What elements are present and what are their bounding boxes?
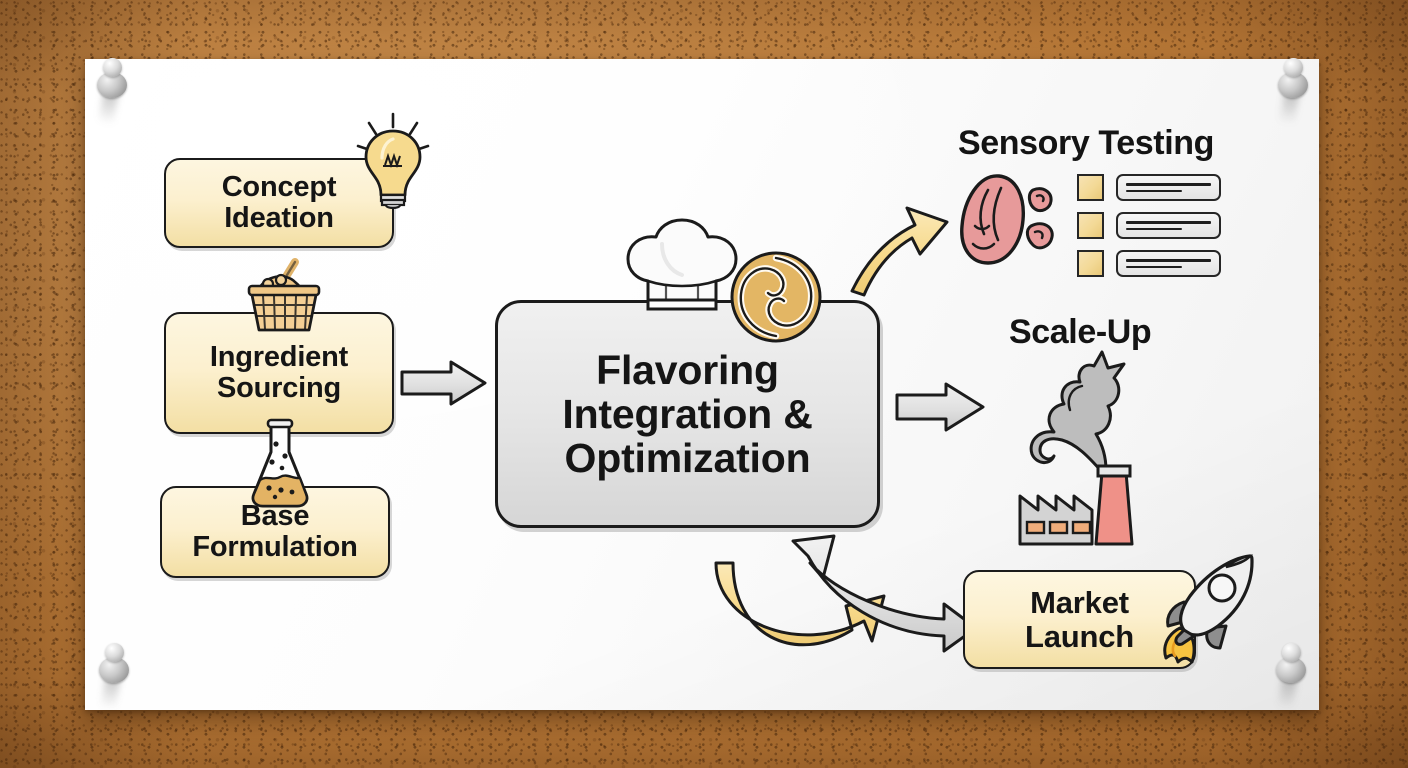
- pin-top-right[interactable]: [1272, 58, 1318, 110]
- node-central-line1: Flavoring: [562, 348, 812, 392]
- checklist-text-bar: [1116, 174, 1221, 201]
- checklist-checkbox[interactable]: [1077, 250, 1104, 277]
- arrow-central-to-sensory: [852, 208, 947, 295]
- pin-knob: [105, 643, 124, 662]
- flask-icon: [245, 418, 315, 510]
- arrow-ingredient-to-central: [402, 362, 485, 404]
- diagram-canvas: Concept Ideation Ingredient Sourcing Bas…: [0, 0, 1408, 768]
- node-market-line1: Market: [1025, 586, 1134, 619]
- checklist-line: [1126, 221, 1211, 224]
- tongue-taste-icon: [955, 168, 1063, 280]
- checklist-row[interactable]: [1077, 174, 1221, 201]
- pin-knob: [103, 58, 122, 77]
- pin-bottom-right[interactable]: [1270, 643, 1316, 695]
- lightbulb-icon: [352, 112, 434, 210]
- pin-knob: [1282, 643, 1301, 662]
- rocket-icon: [1146, 552, 1258, 670]
- checklist-text-bar: [1116, 212, 1221, 239]
- checklist-row[interactable]: [1077, 250, 1221, 277]
- checklist-row[interactable]: [1077, 212, 1221, 239]
- flavor-swirl-icon: [727, 248, 825, 346]
- node-ingredient-line1: Ingredient: [210, 342, 348, 373]
- basket-icon: [237, 258, 331, 338]
- checklist-line: [1126, 190, 1182, 193]
- arrow-central-to-scaleup: [897, 384, 983, 430]
- checklist-line: [1126, 228, 1182, 231]
- pin-bottom-left[interactable]: [93, 643, 139, 695]
- checklist-checkbox[interactable]: [1077, 174, 1104, 201]
- node-concept-line2: Ideation: [222, 203, 337, 234]
- node-base-line2: Formulation: [192, 532, 357, 563]
- sensory-checklist: [1077, 174, 1221, 277]
- checklist-line: [1126, 259, 1211, 262]
- chef-hat-icon: [622, 214, 742, 320]
- node-ingredient-line2: Sourcing: [210, 373, 348, 404]
- label-sensory-testing: Sensory Testing: [958, 124, 1214, 163]
- factory-icon: [1010, 344, 1150, 554]
- pin-knob: [1284, 58, 1303, 77]
- node-market-line2: Launch: [1025, 620, 1134, 653]
- checklist-line: [1126, 266, 1182, 269]
- node-central-line2: Integration &: [562, 392, 812, 436]
- node-central-line3: Optimization: [562, 436, 812, 480]
- checklist-line: [1126, 183, 1211, 186]
- checklist-text-bar: [1116, 250, 1221, 277]
- node-concept-line1: Concept: [222, 172, 337, 203]
- pin-top-left[interactable]: [91, 58, 137, 110]
- checklist-checkbox[interactable]: [1077, 212, 1104, 239]
